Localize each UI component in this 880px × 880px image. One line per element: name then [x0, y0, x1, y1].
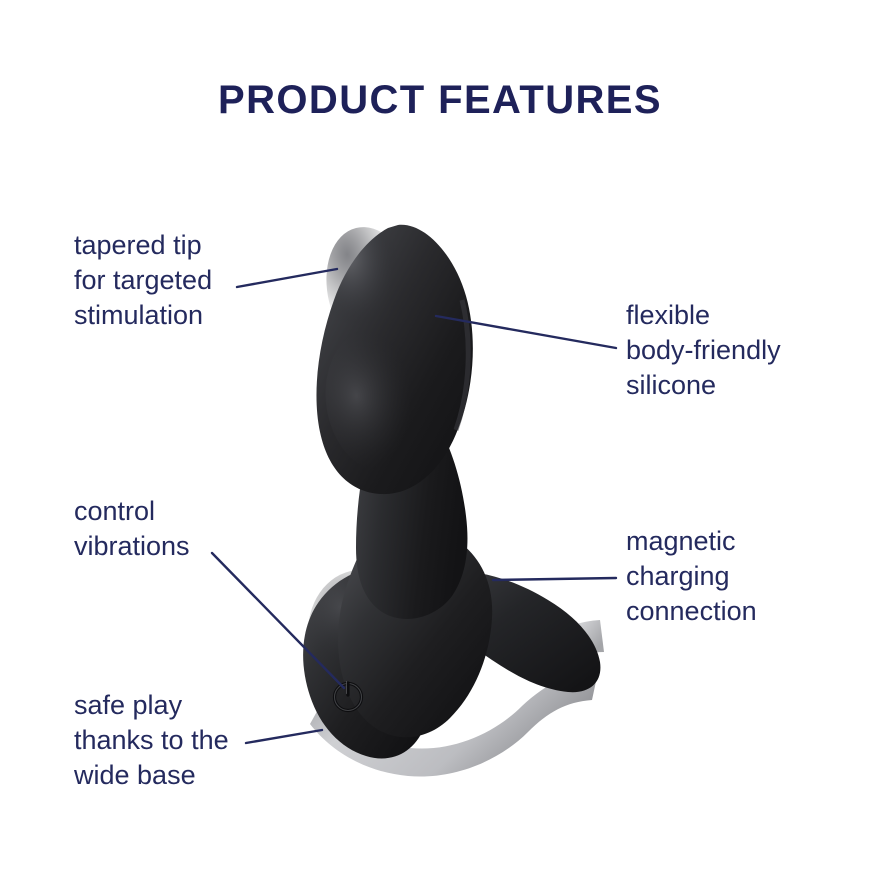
- product-features-infographic: PRODUCT FEATURES: [0, 0, 880, 880]
- callout-label-safe-play: safe play thanks to the wide base: [74, 688, 229, 793]
- callout-label-flexible-silicone: flexible body-friendly silicone: [626, 298, 781, 403]
- callout-label-control-vibrations: control vibrations: [74, 494, 190, 564]
- callout-label-tapered-tip: tapered tip for targeted stimulation: [74, 228, 212, 333]
- callout-label-magnetic-charging: magnetic charging connection: [626, 524, 757, 629]
